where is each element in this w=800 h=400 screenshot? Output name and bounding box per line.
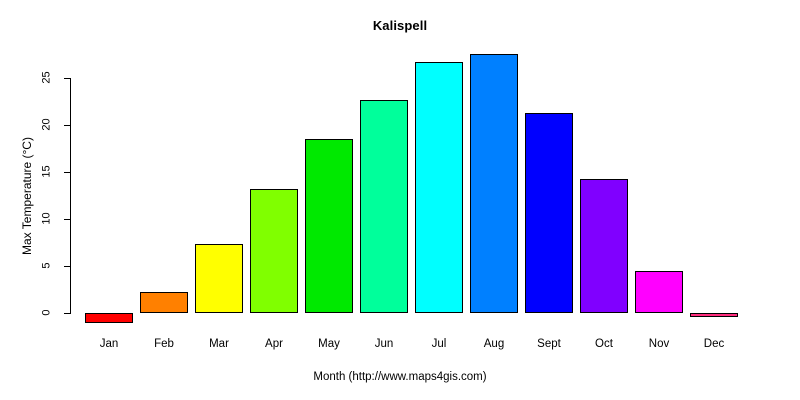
y-axis-tick-label: 5 [42,255,53,277]
y-axis-title: Max Temperature (°C) [20,96,34,296]
y-axis-tick [64,125,70,126]
y-axis-tick [64,266,70,267]
bar-nov [635,271,683,313]
bar-jun [360,100,408,313]
y-axis-tick-label-wrap: 5 [36,259,58,273]
y-axis-tick-label-wrap: 25 [36,71,58,85]
x-axis-label-jul: Jul [415,338,463,350]
bar-chart: Kalispell Max Temperature (°C) 051015202… [0,0,800,400]
x-axis-label-jan: Jan [85,338,133,350]
x-axis-label-dec: Dec [690,338,738,350]
y-axis-tick-label-wrap: 20 [36,118,58,132]
bar-apr [250,189,298,313]
x-axis-label-jun: Jun [360,338,408,350]
bar-sept [525,113,573,313]
y-axis-tick-label: 20 [42,114,53,136]
bar-dec [690,313,738,317]
x-axis-label-nov: Nov [635,338,683,350]
x-axis-label-aug: Aug [470,338,518,350]
bar-jan [85,313,133,323]
x-axis-label-feb: Feb [140,338,188,350]
x-axis-label-oct: Oct [580,338,628,350]
bar-mar [195,244,243,313]
y-axis-tick-label-wrap: 15 [36,165,58,179]
y-axis-tick-label: 15 [42,161,53,183]
bar-feb [140,292,188,313]
y-axis-line [70,78,71,314]
x-axis-label-may: May [305,338,353,350]
y-axis-tick [64,313,70,314]
y-axis-tick [64,219,70,220]
y-axis-tick-label-wrap: 10 [36,212,58,226]
x-axis-title: Month (http://www.maps4gis.com) [0,371,800,383]
x-axis-label-mar: Mar [195,338,243,350]
chart-title: Kalispell [0,18,800,33]
bar-oct [580,179,628,313]
y-axis-tick-label-wrap: 0 [36,306,58,320]
y-axis-tick-label: 0 [42,302,53,324]
x-axis-label-sept: Sept [525,338,573,350]
bar-aug [470,54,518,313]
x-axis-label-apr: Apr [250,338,298,350]
y-axis-tick [64,172,70,173]
y-axis-tick [64,78,70,79]
y-axis-tick-label: 10 [42,208,53,230]
bar-may [305,139,353,313]
bar-jul [415,62,463,313]
y-axis-tick-label: 25 [42,67,53,89]
